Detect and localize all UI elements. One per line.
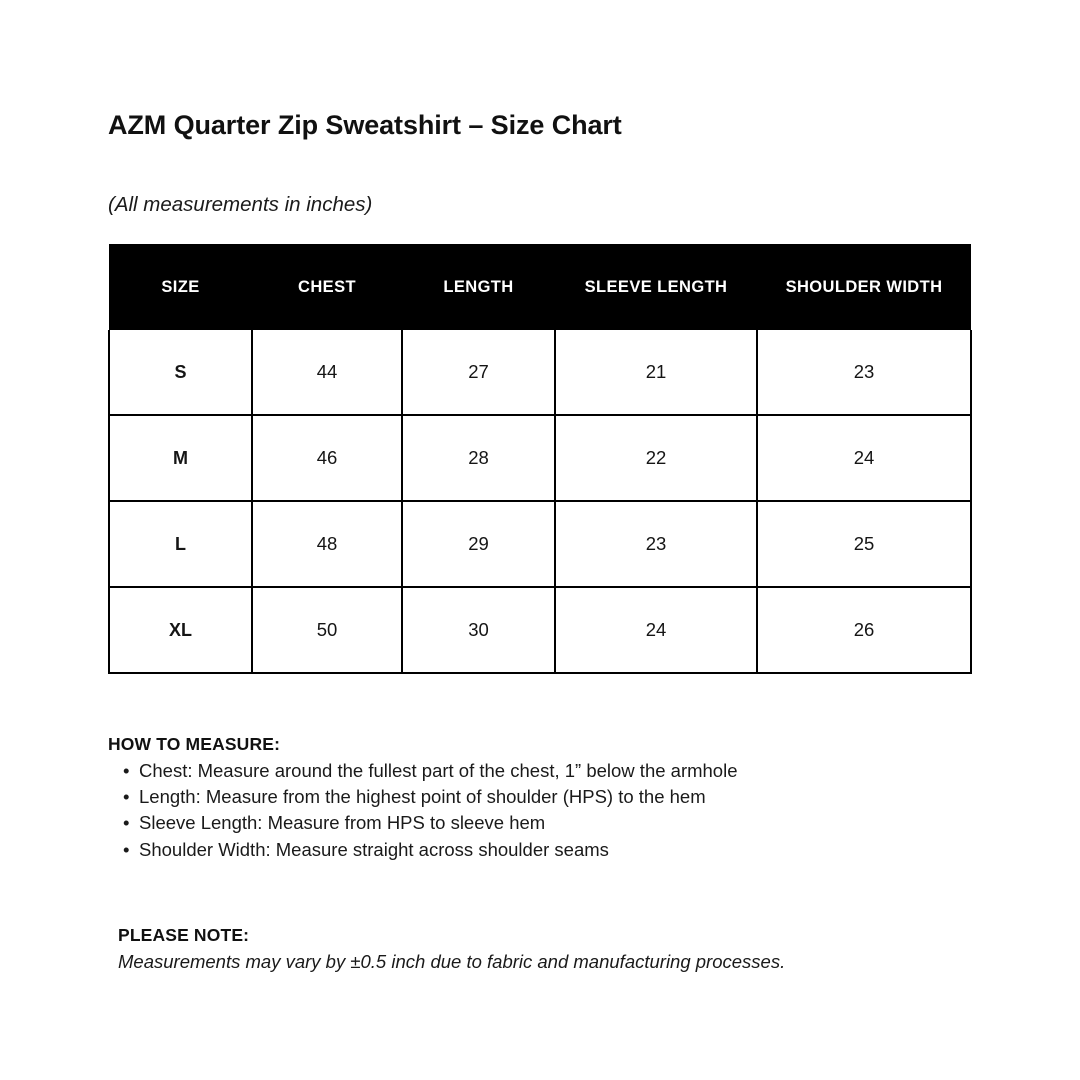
size-chart-table: SIZE CHEST LENGTH SLEEVE LENGTH SHOULDER… <box>108 244 972 674</box>
table-header-row: SIZE CHEST LENGTH SLEEVE LENGTH SHOULDER… <box>109 244 971 330</box>
size-chart-page: AZM Quarter Zip Sweatshirt – Size Chart … <box>0 0 1080 1080</box>
cell-shoulder-width: 23 <box>757 330 971 415</box>
table-body: S 44 27 21 23 M 46 28 22 24 L 48 29 <box>109 330 971 673</box>
cell-sleeve-length: 23 <box>555 501 757 587</box>
list-item: • Chest: Measure around the fullest part… <box>108 758 738 784</box>
cell-size: L <box>109 501 252 587</box>
cell-sleeve-length: 22 <box>555 415 757 501</box>
table-header: SIZE CHEST LENGTH SLEEVE LENGTH SHOULDER… <box>109 244 971 330</box>
list-item-label: Chest: Measure around the fullest part o… <box>139 760 738 781</box>
bullet-icon: • <box>123 784 129 810</box>
table-row: XL 50 30 24 26 <box>109 587 971 673</box>
cell-chest: 44 <box>252 330 402 415</box>
how-to-measure-list: • Chest: Measure around the fullest part… <box>108 758 738 863</box>
cell-chest: 46 <box>252 415 402 501</box>
table-row: L 48 29 23 25 <box>109 501 971 587</box>
cell-length: 27 <box>402 330 555 415</box>
cell-length: 28 <box>402 415 555 501</box>
please-note-heading: PLEASE NOTE: <box>118 924 249 946</box>
page-subtitle: (All measurements in inches) <box>108 192 372 218</box>
cell-shoulder-width: 25 <box>757 501 971 587</box>
size-table-container: SIZE CHEST LENGTH SLEEVE LENGTH SHOULDER… <box>108 244 970 674</box>
cell-length: 29 <box>402 501 555 587</box>
cell-size: XL <box>109 587 252 673</box>
column-header-length: LENGTH <box>402 244 555 330</box>
cell-shoulder-width: 26 <box>757 587 971 673</box>
how-to-measure-heading: HOW TO MEASURE: <box>108 733 280 755</box>
cell-length: 30 <box>402 587 555 673</box>
column-header-size: SIZE <box>109 244 252 330</box>
page-title: AZM Quarter Zip Sweatshirt – Size Chart <box>108 108 622 142</box>
bullet-icon: • <box>123 837 129 863</box>
please-note-body: Measurements may vary by ±0.5 inch due t… <box>118 949 785 975</box>
list-item-label: Length: Measure from the highest point o… <box>139 786 706 807</box>
bullet-icon: • <box>123 758 129 784</box>
list-item: • Shoulder Width: Measure straight acros… <box>108 837 738 863</box>
table-row: S 44 27 21 23 <box>109 330 971 415</box>
column-header-chest: CHEST <box>252 244 402 330</box>
cell-chest: 48 <box>252 501 402 587</box>
cell-size: M <box>109 415 252 501</box>
cell-size: S <box>109 330 252 415</box>
cell-shoulder-width: 24 <box>757 415 971 501</box>
list-item: • Length: Measure from the highest point… <box>108 784 738 810</box>
bullet-icon: • <box>123 810 129 836</box>
cell-sleeve-length: 21 <box>555 330 757 415</box>
column-header-shoulder-width: SHOULDER WIDTH <box>757 244 971 330</box>
cell-chest: 50 <box>252 587 402 673</box>
list-item-label: Sleeve Length: Measure from HPS to sleev… <box>139 812 545 833</box>
column-header-sleeve-length: SLEEVE LENGTH <box>555 244 757 330</box>
list-item-label: Shoulder Width: Measure straight across … <box>139 839 609 860</box>
list-item: • Sleeve Length: Measure from HPS to sle… <box>108 810 738 836</box>
cell-sleeve-length: 24 <box>555 587 757 673</box>
table-row: M 46 28 22 24 <box>109 415 971 501</box>
